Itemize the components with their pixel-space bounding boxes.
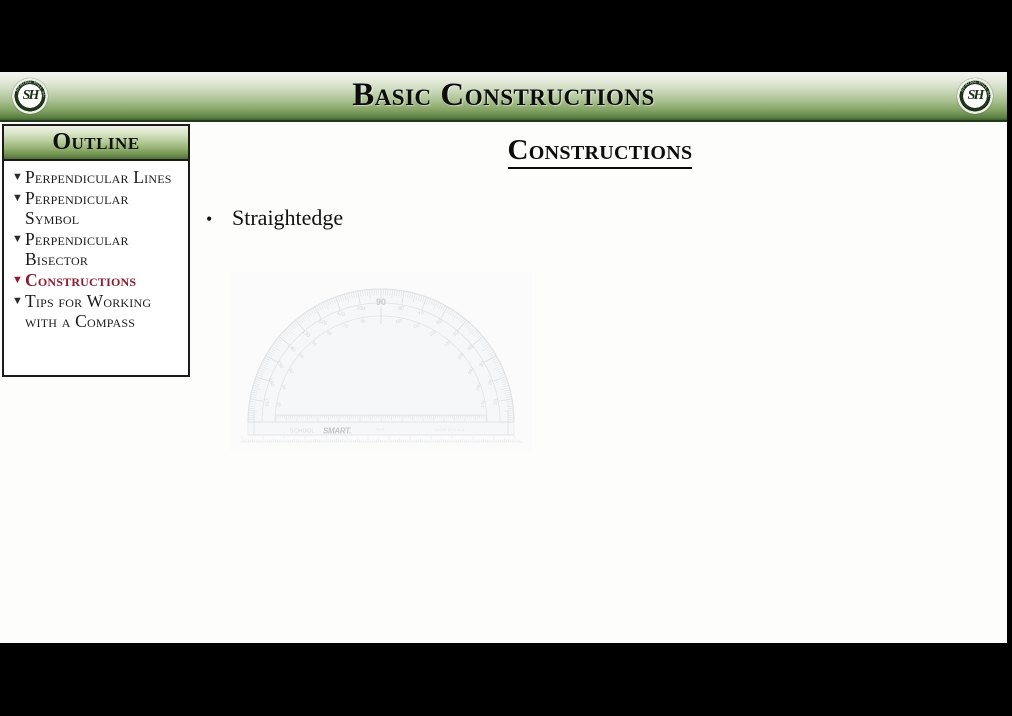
svg-text:INCH: INCH [376,428,385,432]
protractor-brand-secondary: SMART. [323,427,351,436]
chevron-down-icon: ▼ [10,275,25,286]
protractor-brand-primary: SCHOOL [290,429,315,435]
sidebar-item-label: Perpendicular Bisector [25,229,184,269]
protractor-center-label: 90 [376,297,386,307]
slide-title: Basic Constructions [0,72,1007,120]
sidebar-item-label: Perpendicular Lines [25,167,184,187]
protractor-brand-note: MADE IN U.S.A. [435,428,466,432]
screen: SPRING HILL SCHOOL EST 1923 SH Basic Con… [0,0,1012,716]
bullet-text: Straightedge [232,206,343,230]
bullet-dot-icon: • [206,208,232,230]
sidebar-item-label: Constructions [25,270,184,290]
outline-header-label: Outline [4,126,188,159]
school-seal-right-icon: SPRING HILL SCHOOL EST 1923 SH [957,78,993,114]
sidebar-item-perpendicular-lines[interactable]: ▼ Perpendicular Lines [6,167,186,188]
sidebar-item-perpendicular-symbol[interactable]: ▼ Perpendicular Symbol [6,188,186,229]
presentation-slide: SPRING HILL SCHOOL EST 1923 SH Basic Con… [0,72,1007,643]
outline-panel: Outline ▼ Perpendicular Lines ▼ Perpendi… [2,124,190,377]
chevron-down-icon: ▼ [10,296,25,307]
sidebar-item-perpendicular-bisector[interactable]: ▼ Perpendicular Bisector [6,229,186,270]
chevron-down-icon: ▼ [10,193,25,204]
page-title: Constructions [192,134,1007,167]
outline-list: ▼ Perpendicular Lines ▼ Perpendicular Sy… [4,161,188,332]
slide-content: Constructions • Straightedge [192,122,1007,643]
svg-text:10: 10 [493,399,500,406]
svg-text:80: 80 [398,305,405,312]
bullet-list-item: • Straightedge [206,206,343,230]
sidebar-item-label: Tips for Working with a Compass [25,291,184,331]
sidebar-item-label: Perpendicular Symbol [25,188,184,228]
chevron-down-icon: ▼ [10,172,25,183]
sidebar-item-tips-for-working-with-a-compass[interactable]: ▼ Tips for Working with a Compass [6,291,186,332]
outline-header: Outline [4,126,188,161]
protractor-figure: 1017020160301504014050130601207011080100… [230,272,532,450]
protractor-svg: 1017020160301504014050130601207011080100… [230,272,532,450]
page-title-text: Constructions [508,134,693,169]
chevron-down-icon: ▼ [10,234,25,245]
seal-monogram-right: SH [957,78,993,114]
slide-banner: SPRING HILL SCHOOL EST 1923 SH Basic Con… [0,72,1007,122]
sidebar-item-constructions[interactable]: ▼ Constructions [6,270,186,291]
